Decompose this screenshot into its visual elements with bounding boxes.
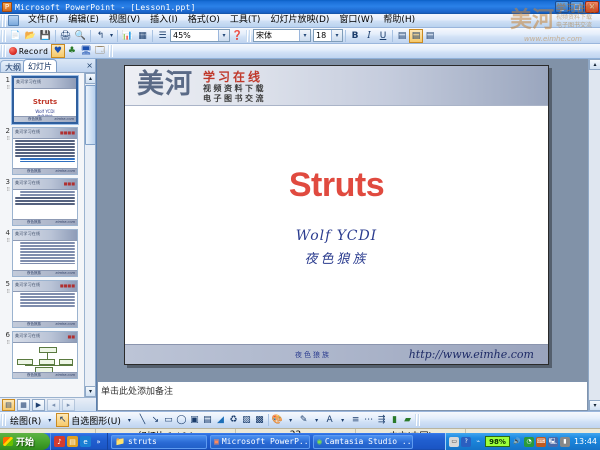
taskbar-item-label: Microsoft PowerP... (222, 437, 310, 446)
slide-title-text[interactable]: Struts (125, 166, 548, 205)
thumb-footer: 夜色狼族eimhe.com (13, 219, 77, 225)
menu-file[interactable]: 文件(F) (23, 14, 63, 27)
menu-gripper[interactable] (1, 15, 7, 27)
view-buttons: ▤ ▦ ▶ ◂ ▸ (0, 397, 96, 411)
line-color-icon[interactable]: ✎ (297, 413, 310, 427)
new-icon[interactable]: 📄 (8, 29, 23, 43)
thumb-body (13, 241, 77, 270)
sync-icon[interactable]: ◔ (524, 437, 534, 447)
taskbar-item-label: Camtasia Studio ... (325, 437, 413, 446)
oval-icon[interactable]: ◯ (175, 413, 188, 427)
chevron-down-icon[interactable]: ▾ (299, 30, 310, 41)
thumb-number: 6⠿ (2, 331, 12, 347)
toolbar-separator (268, 414, 269, 426)
list-item[interactable]: 3⠿ 美河学习在线■■■ 夜色狼族eimhe.com (0, 175, 95, 226)
taskbar-item-powerpoint[interactable]: ▣ Microsoft PowerP... (210, 435, 310, 449)
rectangle-icon[interactable]: ▭ (162, 413, 175, 427)
slide-thumbnail-3[interactable]: 美河学习在线■■■ 夜色狼族eimhe.com (12, 178, 78, 226)
3d-icon[interactable]: ▰ (401, 413, 414, 427)
diagram-icon[interactable]: ♻ (227, 413, 240, 427)
taskbar-item-struts[interactable]: 📁 struts (111, 435, 207, 449)
toolbar-separator (345, 30, 346, 42)
slide-author-cn[interactable]: 夜色狼族 (125, 248, 548, 267)
close-button[interactable]: ✕ (585, 1, 599, 13)
save-icon[interactable]: 💾 (38, 29, 53, 43)
scroll-down-icon[interactable]: ▾ (85, 386, 96, 397)
scroll-up-icon[interactable]: ▴ (85, 73, 96, 84)
slide-thumbnail-4[interactable]: 美河学习在线 夜色狼族eimhe.com (12, 229, 78, 277)
menu-insert[interactable]: 插入(I) (145, 14, 183, 27)
autoshapes-label[interactable]: 自选图形(U) (69, 414, 123, 427)
chevron-down-icon[interactable]: ▾ (218, 30, 229, 41)
powerpoint-window: P Microsoft PowerPoint - [Lesson1.ppt] _… (0, 0, 600, 450)
folder-icon: 📁 (115, 437, 125, 446)
slide-thumbnail-1[interactable]: 美河学习在线 Struts Wolf YCDI夜色狼族 夜色狼族eimhe.co… (12, 76, 78, 124)
chevron-down-icon[interactable]: ▾ (284, 413, 297, 427)
powerpoint-icon: P (2, 2, 12, 12)
thumb-body (13, 139, 77, 168)
workspace: 大纲 幻灯片 × 1⠿ 美河学习在线 Struts (0, 59, 600, 411)
toolbar-separator (55, 30, 56, 42)
picture-icon[interactable]: ▩ (253, 413, 266, 427)
menu-bar: 文件(F) 编辑(E) 视图(V) 插入(I) 格式(O) 工具(T) 幻灯片放… (0, 14, 600, 28)
stamp-icon[interactable]: ♣ (65, 44, 79, 58)
align-center-icon[interactable]: ▤ (409, 29, 423, 43)
view-icon[interactable]: ☰ (155, 29, 170, 43)
camtasia-end-gripper[interactable] (108, 45, 114, 57)
list-item[interactable]: 2⠿ 美河学习在线■■■■ 夜色狼族eimhe.com (0, 124, 95, 175)
taskbar-item-camtasia[interactable]: ◉ Camtasia Studio ... (313, 435, 413, 449)
notes-pane[interactable]: 单击此处添加备注 (97, 381, 588, 411)
close-panel-icon[interactable]: × (86, 61, 93, 70)
monitor-icon[interactable]: 🖳 (548, 437, 558, 447)
slideshow-icon[interactable]: ▶ (32, 399, 45, 411)
italic-button[interactable]: I (362, 29, 376, 43)
menu-slideshow[interactable]: 幻灯片放映(D) (265, 14, 334, 27)
ie-icon[interactable]: e (80, 436, 91, 447)
window-title: Microsoft PowerPoint - [Lesson1.ppt] (15, 3, 196, 12)
app-icon[interactable]: ▤ (67, 436, 78, 447)
chevron-down-icon[interactable]: ▾ (331, 30, 342, 41)
align-right-icon[interactable]: ▤ (423, 29, 437, 43)
normal-view-icon[interactable]: ▤ (2, 399, 15, 411)
panel-tabs: 大纲 幻灯片 × (0, 59, 95, 73)
header-subtitle-2: 电子图书交流 (203, 93, 266, 104)
battery-indicator[interactable]: 98% (485, 436, 510, 447)
thumb-footer: 夜色狼族eimhe.com (13, 270, 77, 276)
tab-slides[interactable]: 幻灯片 (23, 59, 57, 72)
toolbar-separator (117, 30, 118, 42)
draw-menu-label[interactable]: 绘图(R) (8, 414, 43, 427)
toolbar-separator (392, 30, 393, 42)
slide-thumbnail-5[interactable]: 美河学习在线■■■■ 夜色狼族eimhe.com (12, 280, 78, 328)
bold-button[interactable]: B (348, 29, 362, 43)
clipart-icon[interactable]: ▨ (240, 413, 253, 427)
font-color-icon[interactable]: A (323, 413, 336, 427)
font-name-combo[interactable]: 宋体 ▾ (253, 29, 311, 42)
title-bar: P Microsoft PowerPoint - [Lesson1.ppt] _… (0, 0, 600, 14)
thumb-header: 美河学习在线 (13, 230, 77, 241)
toolbar-separator (90, 30, 91, 42)
start-button[interactable]: 开始 (0, 433, 50, 450)
chevron-icon[interactable]: » (93, 436, 104, 447)
thumb-number: 3⠿ (2, 178, 12, 194)
slide-footer-banner: 夜色狼族 http://www.eimhe.com (125, 344, 548, 364)
thumb-body (13, 190, 77, 219)
taskbar: 开始 ♪ ▤ e » 📁 struts ▣ Microsoft PowerP..… (0, 433, 600, 450)
slide-header-banner: 美河 学习在线 视频资料下载 电子图书交流 (125, 66, 548, 106)
maximize-button[interactable]: □ (570, 1, 584, 13)
line-icon[interactable]: ╲ (136, 413, 149, 427)
list-item[interactable]: 6⠿ 美河学习在线■■ (0, 328, 95, 379)
thumb-footer: 夜色狼族eimhe.com (14, 116, 76, 122)
thumb-header: 美河学习在线■■■■ (13, 128, 77, 139)
slide-footer-url: http://www.eimhe.com (409, 348, 534, 361)
menu-help[interactable]: 帮助(H) (378, 14, 420, 27)
keyboard-icon[interactable]: ⌨ (536, 437, 546, 447)
powerpoint-icon: ▣ (214, 437, 219, 446)
list-item[interactable]: 5⠿ 美河学习在线■■■■ 夜色狼族eimhe.com (0, 277, 95, 328)
undo-icon[interactable]: ↰ (93, 29, 108, 43)
scroll-right-icon[interactable]: ▸ (62, 399, 75, 411)
slide-thumbnail-6[interactable]: 美河学习在线■■ (12, 331, 78, 379)
thumb-footer: 夜色狼族eimhe.com (13, 321, 77, 327)
line-style-icon[interactable]: ≡ (349, 413, 362, 427)
quick-launch: ♪ ▤ e » (50, 433, 108, 450)
thumb-header: 美河学习在线■■■ (13, 179, 77, 190)
thumbnail-scrollbar[interactable]: ▴ ▾ (84, 73, 95, 397)
windows-flag-icon (3, 437, 13, 446)
start-label: 开始 (16, 435, 34, 448)
battery-icon[interactable]: ▮ (560, 437, 570, 447)
toolbar-gripper[interactable] (1, 30, 7, 42)
thumb-footer: 夜色狼族eimhe.com (13, 168, 77, 174)
record-label: Record (19, 47, 48, 56)
slide-footer-left: 夜色狼族 (295, 350, 331, 360)
thumb-header: 美河学习在线■■ (13, 332, 77, 343)
network-icon[interactable]: ▭ (449, 437, 459, 447)
thumb-header: 美河学习在线 (14, 78, 76, 89)
insert-chart-icon[interactable]: 📊 (120, 29, 135, 43)
formatting-toolbar-gripper[interactable] (246, 30, 252, 42)
thumb-number: 4⠿ (2, 229, 12, 245)
camtasia-toolbar: Record ♥ ♣ 🖥 🗔 (0, 44, 600, 59)
menu-format[interactable]: 格式(O) (183, 14, 225, 27)
thumb-number: 5⠿ (2, 280, 12, 296)
shield-icon[interactable]: ? (461, 437, 471, 447)
thumb-number: 2⠿ (2, 127, 12, 143)
preview-icon[interactable]: 🔍 (73, 29, 88, 43)
underline-button[interactable]: U (376, 29, 390, 43)
thumb-body: Struts Wolf YCDI夜色狼族 (14, 89, 76, 116)
select-icon[interactable]: ↖ (56, 413, 69, 427)
document-menu-icon[interactable] (8, 15, 19, 26)
toolbar-separator (152, 30, 153, 42)
usb-icon[interactable]: ⌁ (473, 437, 483, 447)
drawbar-end-gripper[interactable] (415, 414, 421, 426)
chevron-down-icon[interactable]: ▾ (43, 413, 56, 427)
slide-area-scrollbar[interactable]: ▴ ▾ (588, 59, 600, 411)
drawbar-gripper[interactable] (1, 414, 7, 426)
arrow-icon[interactable]: ↘ (149, 413, 162, 427)
clock[interactable]: 13:44 (572, 437, 597, 446)
list-item[interactable]: 4⠿ 美河学习在线 夜色狼族eimhe.com (0, 226, 95, 277)
thumbnail-list[interactable]: 1⠿ 美河学习在线 Struts Wolf YCDI夜色狼族 夜色狼族eimhe… (0, 73, 95, 397)
font-name-value: 宋体 (256, 30, 272, 41)
slide-panel: 大纲 幻灯片 × 1⠿ 美河学习在线 Struts (0, 59, 96, 411)
dash-style-icon[interactable]: ⋯ (362, 413, 375, 427)
textbox-icon[interactable]: ▣ (188, 413, 201, 427)
slide-edit-area[interactable]: 美河 学习在线 视频资料下载 电子图书交流 Struts Wolf YCDI 夜… (97, 59, 600, 411)
slide-canvas[interactable]: 美河 学习在线 视频资料下载 电子图书交流 Struts Wolf YCDI 夜… (124, 65, 549, 365)
wordart-icon[interactable]: ◢ (214, 413, 227, 427)
menu-view[interactable]: 视图(V) (104, 14, 145, 27)
system-tray: ▭ ? ⌁ 98% 🔊 ◔ ⌨ 🖳 ▮ 13:44 (445, 433, 600, 450)
meihe-logo: 美河 (137, 68, 193, 102)
thumb-title: Struts (16, 98, 74, 106)
font-size-value: 18 (316, 31, 326, 40)
table-icon[interactable]: ▦ (135, 29, 150, 43)
menu-tools[interactable]: 工具(T) (225, 14, 266, 27)
slide-sorter-icon[interactable]: ▦ (17, 399, 30, 411)
screen-icon[interactable]: 🖥 (79, 44, 93, 58)
window-controls: _ □ ✕ (555, 1, 599, 13)
window-icon[interactable]: 🗔 (93, 44, 107, 58)
menu-edit[interactable]: 编辑(E) (63, 14, 104, 27)
open-icon[interactable]: 📂 (23, 29, 38, 43)
slide-body[interactable]: Struts Wolf YCDI 夜色狼族 (125, 106, 548, 344)
zoom-value: 45% (173, 31, 191, 40)
thumb-body (13, 292, 77, 321)
taskbar-item-label: struts (128, 437, 157, 446)
arrow-style-icon[interactable]: ⇶ (375, 413, 388, 427)
chevron-down-icon[interactable]: ▾ (310, 413, 323, 427)
help-icon[interactable]: ❓ (230, 29, 245, 43)
print-icon[interactable]: 🖨 (58, 29, 73, 43)
record-button[interactable]: Record (8, 45, 51, 58)
thumb-header: 美河学习在线■■■■ (13, 281, 77, 292)
standard-toolbar: 📄 📂 💾 🖨 🔍 ↰ ▾ 📊 ▦ ☰ 45% ▾ ❓ 宋体 ▾ 18 ▾ B … (0, 28, 600, 44)
thumb-footer: 夜色狼族eimhe.com (13, 372, 77, 378)
font-size-combo[interactable]: 18 ▾ (313, 29, 343, 42)
scroll-up-icon[interactable]: ▴ (589, 59, 600, 70)
slide-thumbnail-2[interactable]: 美河学习在线■■■■ 夜色狼族eimhe.com (12, 127, 78, 175)
thumb-number: 1⠿ (2, 76, 12, 92)
fill-color-icon[interactable]: 🎨 (271, 413, 284, 427)
vertical-textbox-icon[interactable]: ▤ (201, 413, 214, 427)
menu-window[interactable]: 窗口(W) (334, 14, 378, 27)
slide-author-en[interactable]: Wolf YCDI (125, 228, 548, 244)
chevron-down-icon[interactable]: ▾ (336, 413, 349, 427)
heart-icon[interactable]: ♥ (51, 44, 65, 58)
scroll-left-icon[interactable]: ◂ (47, 399, 60, 411)
zoom-combo[interactable]: 45% ▾ (170, 29, 230, 42)
volume-icon[interactable]: 🔊 (512, 437, 522, 447)
drawing-toolbar: 绘图(R) ▾ ↖ 自选图形(U) ▾ ╲ ↘ ▭ ◯ ▣ ▤ ◢ ♻ ▨ ▩ … (0, 411, 600, 428)
shadow-icon[interactable]: ▮ (388, 413, 401, 427)
chevron-down-icon[interactable]: ▾ (123, 413, 136, 427)
camtasia-gripper[interactable] (1, 45, 7, 57)
undo-dropdown-icon[interactable]: ▾ (108, 29, 115, 43)
minimize-button[interactable]: _ (555, 1, 569, 13)
thumb-diagram-icon (15, 345, 75, 370)
record-icon (9, 47, 17, 55)
list-item[interactable]: 1⠿ 美河学习在线 Struts Wolf YCDI夜色狼族 夜色狼族eimhe… (0, 73, 95, 124)
scrollbar-thumb[interactable] (85, 85, 96, 145)
align-left-icon[interactable]: ▤ (395, 29, 409, 43)
scroll-down-icon[interactable]: ▾ (589, 400, 600, 411)
thumb-body (13, 343, 77, 372)
media-icon[interactable]: ♪ (54, 436, 65, 447)
camtasia-icon: ◉ (317, 437, 322, 446)
